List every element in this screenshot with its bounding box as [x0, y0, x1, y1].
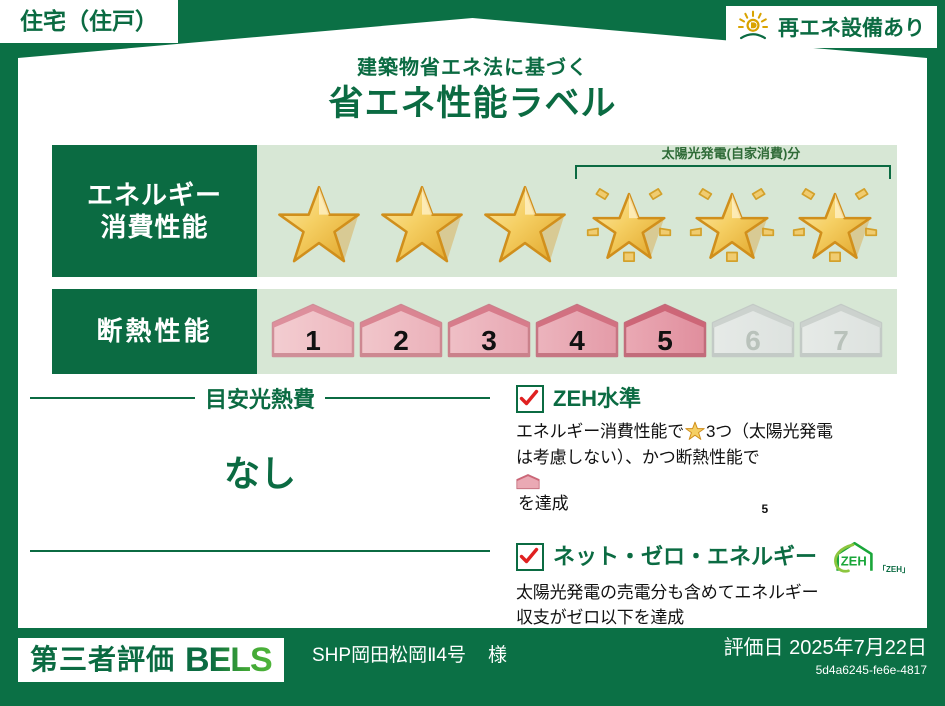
evaluation-date-value: 2025年7月22日	[789, 637, 927, 659]
bels-logo: 第三者評価 BELS	[18, 638, 284, 682]
grade-house-7: 7	[798, 301, 884, 363]
title-subtitle: 建築物省エネ法に基づく	[0, 58, 945, 78]
star-icon	[276, 182, 362, 268]
utility-cost-section: 目安光熱費 なし	[30, 382, 490, 552]
criteria-section: ZEH水準 エネルギー消費性能で3つ（太陽光発電 は考慮しない）、かつ断熱性能で…	[516, 385, 916, 631]
zeh-logo: ZEH 「ZEH」	[826, 540, 910, 574]
label-title: 建築物省エネ法に基づく 省エネ性能ラベル	[0, 58, 945, 121]
star-item-sparkling	[789, 179, 881, 271]
grade-number: 6	[710, 327, 796, 355]
insulation-grade-scale: 1 2	[257, 289, 897, 374]
grade-house-4: 4	[534, 301, 620, 363]
star-item	[376, 179, 468, 271]
zeh-logo-text: ZEH	[841, 553, 867, 568]
net-zero-energy-title: ネット・ゼロ・エネルギー	[553, 546, 817, 568]
net-zero-energy-checkbox[interactable]	[516, 543, 544, 571]
renewable-energy-badge: 再エネ設備あり	[726, 6, 937, 48]
utility-cost-title: 目安光熱費	[205, 382, 315, 414]
solar-self-consumption-note: 太陽光発電(自家消費)分	[575, 147, 887, 160]
criterion-zeh-level: ZEH水準 エネルギー消費性能で3つ（太陽光発電 は考慮しない）、かつ断熱性能で…	[516, 385, 916, 520]
star-icon	[482, 182, 568, 268]
insulation-performance-row: 断熱性能	[52, 289, 897, 374]
zeh-logo-caption: 「ZEH」	[878, 566, 910, 574]
category-chip: 住宅（住戸）	[0, 0, 178, 43]
title-main: 省エネ性能ラベル	[0, 86, 945, 121]
label-footer: 第三者評価 BELS SHP岡田松岡Ⅱ4号様 評価日 2025年7月22日 5d…	[0, 628, 945, 706]
grade-house-5: 5	[622, 301, 708, 363]
zeh-level-title: ZEH水準	[553, 388, 641, 410]
energy-performance-label: エネルギー 消費性能	[52, 145, 257, 277]
criterion-header: ZEH水準	[516, 385, 916, 413]
inline-star-icon	[685, 421, 705, 441]
owner-suffix: 様	[488, 645, 507, 666]
criterion-header: ネット・ゼロ・エネルギー ZEH 「ZEH」	[516, 540, 916, 574]
star-item-sparkling	[583, 179, 675, 271]
star-item	[479, 179, 571, 271]
bels-logo-jp: 第三者評価	[30, 646, 175, 674]
net-zero-energy-description: 太陽光発電の売電分も含めてエネルギー 収支がゼロ以下を達成	[516, 580, 916, 631]
grade-house-3: 3	[446, 301, 532, 363]
zeh-level-description: エネルギー消費性能で3つ（太陽光発電 は考慮しない）、かつ断熱性能で5を達成	[516, 419, 916, 520]
zeh-level-checkbox[interactable]	[516, 385, 544, 413]
star-icon	[689, 182, 775, 268]
star-icon	[586, 182, 672, 268]
evaluation-date: 評価日 2025年7月22日	[724, 638, 927, 658]
grade-number: 2	[358, 327, 444, 355]
grade-number: 3	[446, 327, 532, 355]
bels-energy-label: 住宅（住戸） 再エネ設備あり 建築物省エネ法に基づく	[0, 0, 945, 706]
zeh-logo-mark: ZEH	[830, 540, 876, 574]
check-icon	[519, 546, 539, 566]
performance-section: エネルギー 消費性能 太陽光発電(自家消費)分	[52, 145, 897, 374]
solar-sun-icon	[736, 10, 770, 44]
criterion-net-zero-energy: ネット・ゼロ・エネルギー ZEH 「ZEH」 太陽光発電の売電分も含めてエネルギ…	[516, 540, 916, 631]
inline-house-icon: 5	[516, 473, 916, 491]
energy-performance-body: 太陽光発電(自家消費)分	[257, 145, 897, 277]
star-item	[273, 179, 365, 271]
grade-number: 4	[534, 327, 620, 355]
utility-cost-heading: 目安光熱費	[30, 382, 490, 414]
grade-house-1: 1	[270, 301, 356, 363]
grade-number: 5	[622, 327, 708, 355]
check-icon	[519, 388, 539, 408]
owner-name: SHP岡田松岡Ⅱ4号	[312, 645, 466, 666]
star-rating	[257, 177, 897, 273]
grade-number: 7	[798, 327, 884, 355]
heading-rule-right	[325, 397, 490, 399]
renewable-badge-label: 再エネ設備あり	[778, 12, 925, 42]
insulation-performance-label: 断熱性能	[52, 289, 257, 374]
utility-cost-bottom-rule	[30, 550, 490, 552]
evaluation-id: 5d4a6245-fe6e-4817	[816, 664, 927, 676]
grade-house-6: 6	[710, 301, 796, 363]
grade-number: 1	[270, 327, 356, 355]
star-item-sparkling	[686, 179, 778, 271]
utility-cost-value: なし	[30, 456, 490, 492]
zeh-house-icon: ZEH	[830, 540, 876, 574]
heading-rule-left	[30, 397, 195, 399]
star-icon	[379, 182, 465, 268]
grade-house-2: 2	[358, 301, 444, 363]
energy-performance-row: エネルギー 消費性能 太陽光発電(自家消費)分	[52, 145, 897, 277]
bels-logo-en: BELS	[185, 643, 272, 677]
insulation-performance-body: 1 2	[257, 289, 897, 374]
star-icon	[792, 182, 878, 268]
owner-name-row: SHP岡田松岡Ⅱ4号様	[312, 646, 507, 665]
evaluation-date-label: 評価日	[724, 637, 784, 659]
